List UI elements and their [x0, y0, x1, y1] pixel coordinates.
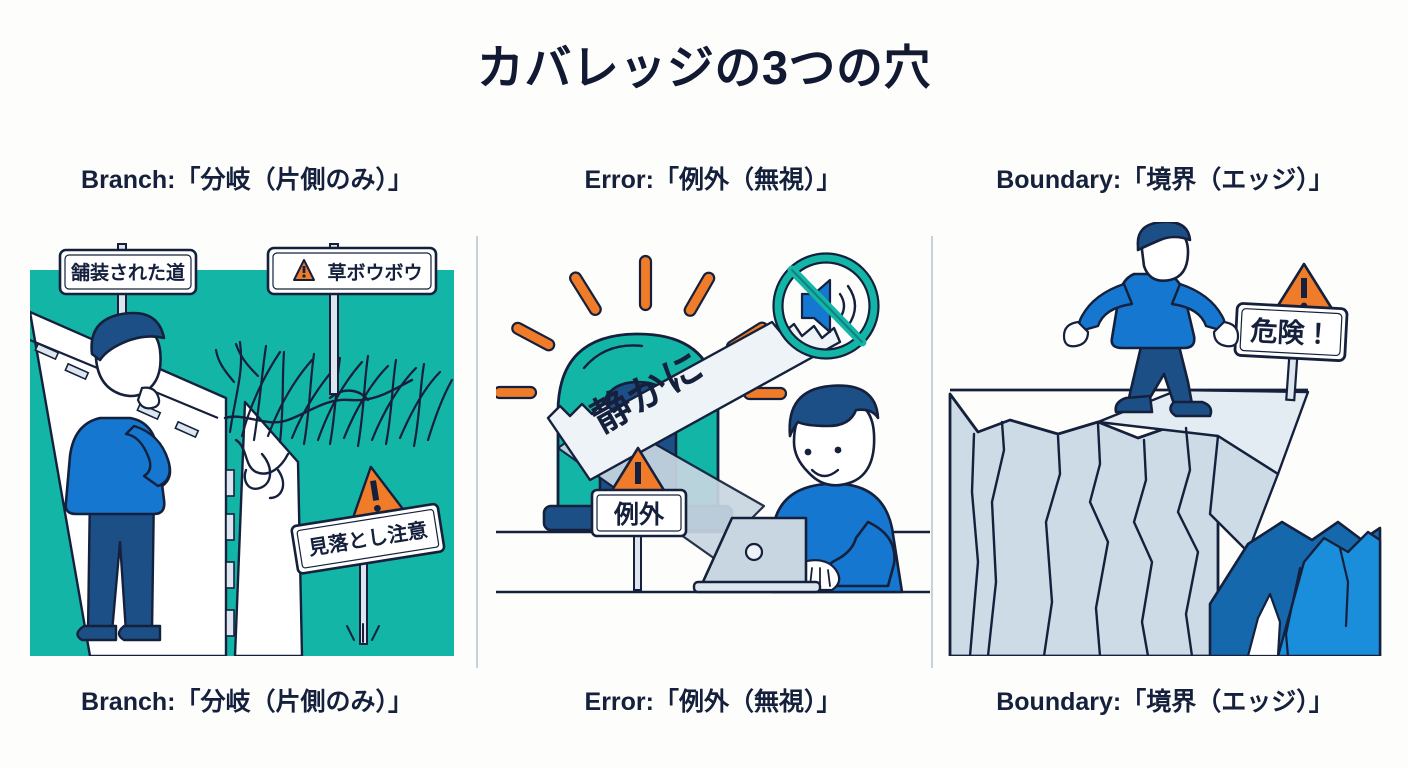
person-shoe-left — [1116, 396, 1152, 412]
danger-sign: 危険！ — [1235, 264, 1348, 400]
panel-divider-1 — [476, 236, 478, 668]
panel-boundary: Boundary:「境界（エッジ）」 — [946, 160, 1384, 720]
overgrown-grass-sign-label: 草ボウボウ — [327, 261, 422, 284]
panel-boundary-header: Boundary:「境界（エッジ）」 — [946, 160, 1384, 196]
muted-alarm-illustration: 静かに 例外 — [496, 222, 930, 656]
panel-branch-header: Branch:「分岐（片側のみ）」 — [28, 160, 466, 196]
infographic-canvas: カバレッジの3つの穴 Branch:「分岐（片側のみ）」 — [0, 0, 1408, 768]
panel-error-header: Error:「例外（無視）」 — [494, 160, 932, 196]
laptop-base — [694, 582, 820, 592]
laptop-logo — [746, 544, 762, 560]
person-eye-left — [805, 449, 812, 456]
person-shoe-left — [77, 626, 116, 640]
paved-road-sign-label: 舗装された道 — [70, 261, 185, 284]
road-fork-illustration: 舗装された道 草ボウボウ — [30, 222, 464, 656]
panel-boundary-caption: Boundary:「境界（エッジ）」 — [946, 682, 1384, 718]
exception-sign-label: 例外 — [613, 500, 665, 529]
person-shoe-right — [1170, 402, 1211, 416]
page-title: カバレッジの3つの穴 — [0, 42, 1408, 94]
person-hand — [138, 388, 159, 409]
cliff-edge-illustration: 危険！ — [948, 222, 1382, 656]
panel-error: Error:「例外（無視）」 — [494, 160, 932, 720]
person-eye-right — [835, 447, 842, 454]
person-shoe-right — [119, 626, 160, 640]
danger-sign-label: 危険！ — [1250, 315, 1333, 350]
cliff-rock-light — [950, 394, 1218, 656]
panel-branch: Branch:「分岐（片側のみ）」 — [28, 160, 466, 720]
panel-branch-caption: Branch:「分岐（片側のみ）」 — [28, 682, 466, 718]
person-walking-edge — [1064, 222, 1238, 416]
panel-error-caption: Error:「例外（無視）」 — [494, 682, 932, 718]
